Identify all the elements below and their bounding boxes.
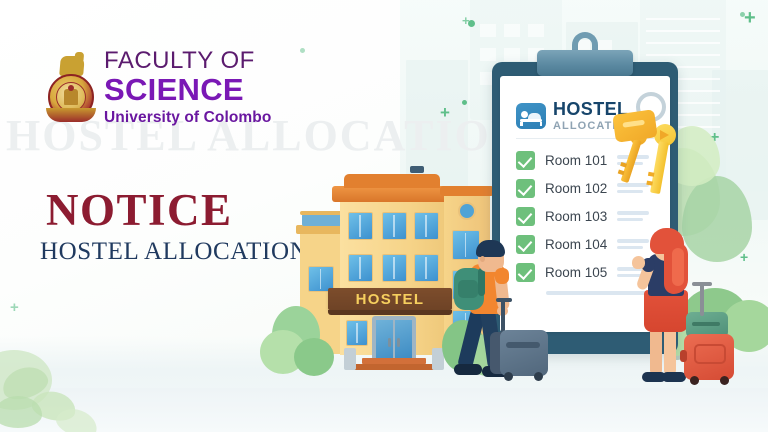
suitcase-handle	[501, 300, 505, 334]
hand-raised	[632, 256, 645, 269]
suitcase-wheel	[690, 376, 699, 385]
suitcase-body	[500, 330, 548, 376]
shoe-front	[662, 372, 686, 382]
key-stem-secondary	[650, 141, 669, 194]
building-roof-slope	[344, 174, 440, 188]
bg-building-line	[646, 30, 720, 32]
male-student	[452, 236, 572, 396]
bg-building-window	[504, 48, 520, 61]
suitcase-clasp	[680, 350, 687, 362]
room-keys-icon	[612, 92, 708, 204]
room-label: Room 103	[545, 209, 607, 224]
crest-base	[46, 108, 96, 122]
crest-emblem	[64, 89, 78, 105]
suitcase-wheel	[504, 372, 513, 381]
key-tag	[612, 109, 657, 143]
bg-building-window	[528, 24, 544, 37]
page-subtitle: HOSTEL ALLOCATION	[40, 238, 308, 266]
dot-decor-icon	[300, 48, 305, 53]
skirt	[644, 290, 688, 332]
room-checkbox[interactable]	[516, 179, 535, 198]
room-checkbox[interactable]	[516, 151, 535, 170]
logo-line-university: University of Colombo	[104, 109, 294, 127]
room-checkbox[interactable]	[516, 207, 535, 226]
door-handle	[397, 338, 400, 347]
bg-building-line	[646, 54, 720, 56]
hostel-sign-text: HOSTEL	[328, 290, 452, 310]
detail-bar	[617, 218, 642, 222]
room-detail-bars	[617, 211, 658, 221]
suitcase-stripe	[506, 342, 540, 348]
ear	[480, 256, 485, 262]
university-crest-icon	[44, 56, 100, 122]
dot-decor-icon	[468, 20, 475, 27]
bg-building-window	[504, 24, 520, 37]
entrance-step	[354, 364, 434, 370]
room-label: Room 101	[545, 153, 607, 168]
detail-bar	[617, 211, 649, 215]
bg-building-line	[646, 42, 720, 44]
suitcase-wheel	[720, 376, 729, 385]
shoe-back	[454, 364, 482, 375]
female-student	[636, 228, 746, 396]
door-divider	[393, 320, 395, 358]
building-window	[414, 212, 439, 240]
bush	[294, 338, 334, 376]
dot-decor-icon	[740, 12, 745, 17]
suitcase-handle-bar	[496, 298, 512, 302]
building-window	[348, 254, 373, 282]
building-window	[382, 212, 407, 240]
logo-line-faculty: FACULTY OF	[104, 48, 294, 73]
building-window	[348, 212, 373, 240]
bed-icon	[516, 103, 546, 129]
building-window	[414, 254, 439, 282]
plus-decor-icon: +	[440, 104, 450, 121]
crest-lion-icon	[59, 56, 85, 76]
hair-highlight	[672, 248, 684, 286]
backpack-strap	[478, 268, 485, 296]
sleeve	[495, 268, 509, 284]
bg-building-window	[480, 48, 496, 61]
faculty-logo: FACULTY OF SCIENCE University of Colombo	[44, 48, 294, 140]
suitcase-panel	[694, 344, 726, 364]
bg-building-line	[646, 18, 720, 20]
key-stem-primary	[621, 139, 642, 183]
tower-round-window	[458, 202, 476, 220]
building-window	[382, 254, 407, 282]
dot-decor-icon	[462, 100, 467, 105]
logo-text-block: FACULTY OF SCIENCE University of Colombo	[104, 48, 294, 127]
suitcase-handle	[700, 284, 704, 316]
hair	[476, 240, 505, 257]
room-row[interactable]: Room 103	[516, 202, 658, 230]
sign-shade	[328, 310, 452, 315]
backpack-pocket	[458, 280, 478, 298]
door-handle	[388, 338, 391, 347]
logo-line-science: SCIENCE	[104, 74, 294, 106]
suitcase-wheel	[534, 372, 543, 381]
room-label: Room 102	[545, 181, 607, 196]
notice-poster: HOSTEL ALLOCATION + + + + + + FACULTY OF…	[0, 0, 768, 432]
bg-building-window	[480, 24, 496, 37]
green-bag-stripe	[692, 322, 720, 326]
building-roof	[332, 186, 452, 202]
tower-roof	[440, 186, 494, 196]
building-window	[346, 320, 368, 346]
entrance-plinth	[344, 348, 356, 370]
suitcase-handle-bar	[692, 282, 712, 286]
clipboard-clip	[537, 50, 633, 76]
plus-decor-icon: +	[744, 8, 756, 28]
plus-decor-icon: +	[10, 300, 19, 315]
page-title: NOTICE	[46, 188, 233, 233]
roof-antenna	[410, 166, 424, 173]
